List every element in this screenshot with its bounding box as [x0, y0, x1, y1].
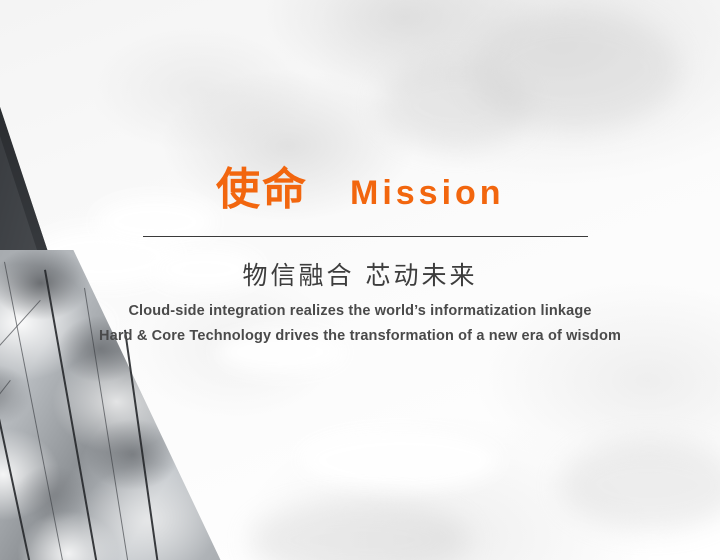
hero-headline: 使命 Mission [143, 168, 593, 237]
cloud-haze [380, 60, 530, 150]
cloud-puff [300, 430, 500, 490]
description-line-1: Cloud-side integration realizes the worl… [0, 303, 720, 319]
subtitle-cn: 物信融合 芯动未来 [0, 256, 720, 292]
page-title-cn: 使命 [216, 168, 308, 212]
glass-reflection-shading [0, 250, 230, 560]
title-divider [143, 236, 588, 237]
page-title-en: Mission [350, 176, 505, 210]
description-line-2: Hard & Core Technology drives the transf… [0, 328, 720, 344]
title-row: 使命 Mission [143, 168, 593, 230]
mission-banner: 使命 Mission 物信融合 芯动未来 Cloud-side integrat… [0, 0, 720, 560]
